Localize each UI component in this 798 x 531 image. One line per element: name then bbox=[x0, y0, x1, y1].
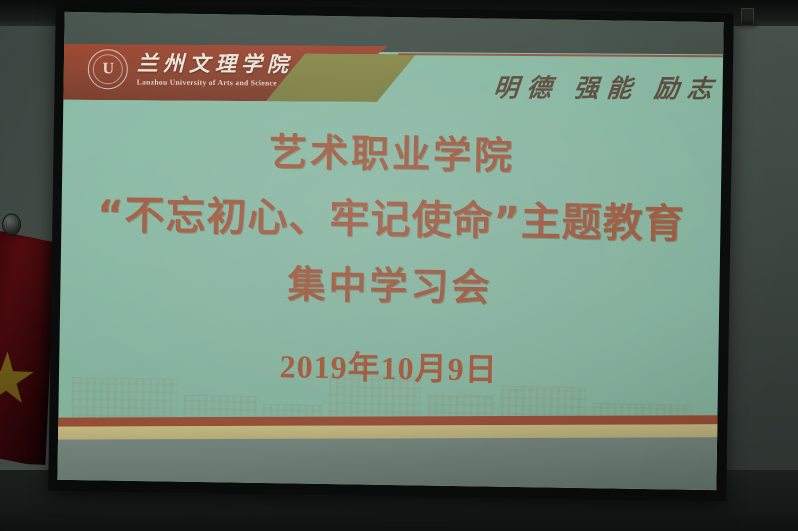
slide-title-line-1: 艺术职业学院 bbox=[62, 130, 722, 178]
chinese-flag bbox=[0, 213, 56, 465]
header-hairline-rule bbox=[398, 53, 723, 57]
institution-name-cn: 兰州文理学院 bbox=[137, 53, 293, 75]
slide-title-line-3: 集中学习会 bbox=[60, 262, 720, 310]
flag-cloth bbox=[0, 231, 56, 465]
flag-star-icon bbox=[0, 350, 36, 408]
flag-shading bbox=[0, 231, 56, 465]
slide-title-line-2: “不忘初心、牢记使命”主题教育 bbox=[61, 195, 721, 245]
projection-screen-frame: U 兰州文理学院 Lanzhou University of Arts and … bbox=[48, 3, 734, 502]
slide-date: 2019年10月9日 bbox=[59, 338, 719, 394]
university-motto: 明德 强能 励志 笃行 bbox=[492, 68, 724, 106]
university-seal-icon: U bbox=[88, 49, 128, 89]
university-logo: U 兰州文理学院 Lanzhou University of Arts and … bbox=[88, 49, 293, 90]
logo-text-block: 兰州文理学院 Lanzhou University of Arts and Sc… bbox=[137, 53, 293, 87]
flag-pole-knob bbox=[2, 213, 22, 236]
institution-name-en: Lanzhou University of Arts and Science bbox=[137, 78, 293, 87]
slide-footer-bands bbox=[57, 415, 723, 490]
footer-band-dark bbox=[57, 437, 723, 490]
slide-title-block: 艺术职业学院 “不忘初心、牢记使命”主题教育 集中学习会 2019年10月9日 bbox=[59, 130, 722, 394]
screen-bracket-shadow bbox=[737, 22, 756, 27]
presentation-slide: U 兰州文理学院 Lanzhou University of Arts and … bbox=[57, 12, 723, 490]
seal-monogram: U bbox=[89, 60, 127, 78]
photograph-scene: U 兰州文理学院 Lanzhou University of Arts and … bbox=[0, 0, 798, 531]
